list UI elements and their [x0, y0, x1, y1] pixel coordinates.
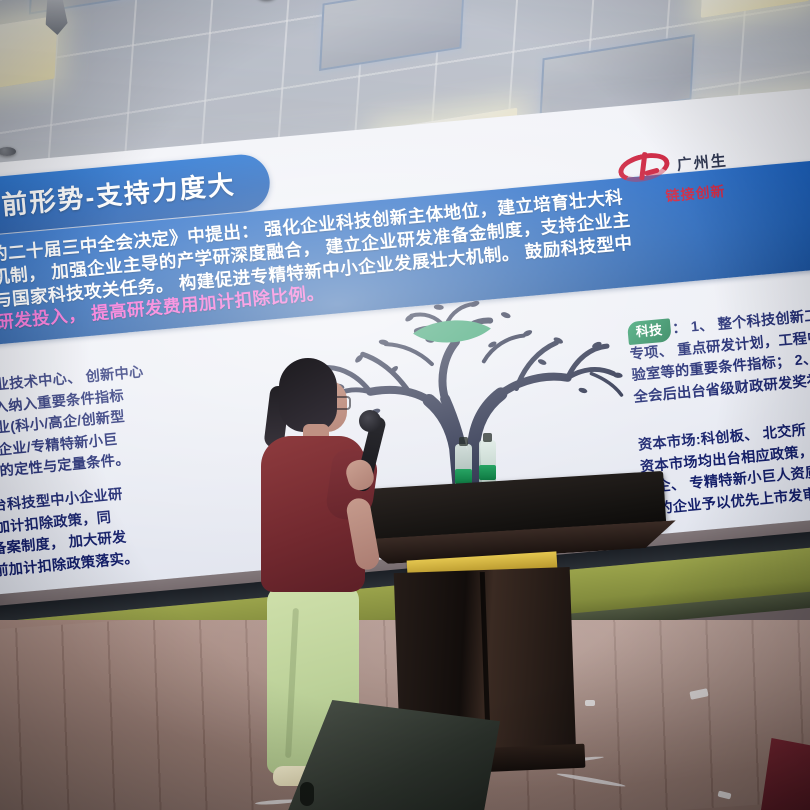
water-bottle	[479, 440, 496, 484]
logo-brand-text: 广州生	[675, 149, 728, 175]
water-bottle	[455, 444, 472, 488]
presentation-photo-scene: 当前形势-支持力度大 党的二十届三中全会决定》中提出： 强化企业科技创新主体地位…	[0, 0, 810, 810]
microphone-head-icon	[359, 410, 381, 432]
slide-title-text: 当前形势-支持力度大	[0, 169, 236, 223]
speaker-port	[300, 782, 314, 806]
presenter-hair	[279, 358, 337, 432]
slide-right-block-1: 科技： 1、 整个科技创新工作的 专项、 重点研发计划，工程中 验室等的重要条件…	[626, 292, 810, 409]
guangzhou-oval-logo-icon	[616, 152, 670, 184]
